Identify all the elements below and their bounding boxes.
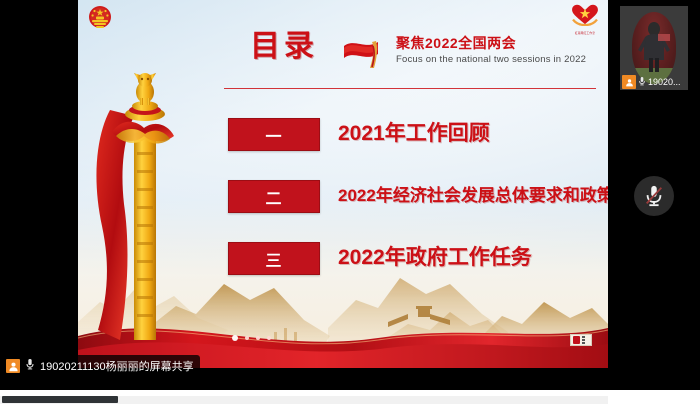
- agenda-number-3: 三: [229, 243, 319, 274]
- slide-subtitle-cn: 聚焦2022全国两会: [396, 33, 516, 53]
- microphone-muted-icon[interactable]: [634, 176, 674, 216]
- badge-bars: [582, 336, 585, 344]
- china-national-emblem-icon: [87, 4, 113, 34]
- microphone-icon: [25, 357, 35, 375]
- participant-tile-label: 19020...: [620, 74, 688, 90]
- agenda-number-badge-2: 二: [228, 180, 320, 213]
- person-icon: [622, 75, 636, 89]
- agenda-number-1: 一: [229, 119, 319, 150]
- agenda-label-3: 2022年政府工作任务: [338, 241, 532, 275]
- page-title: 目录: [250, 30, 318, 64]
- person-icon: [6, 359, 20, 373]
- meeting-screen-share-window: 红基网红工作室 目录 聚焦2022全国两会 Focus on the natio…: [0, 0, 700, 408]
- slide-title-block: 目录 聚焦2022全国两会 Focus on the national two …: [250, 30, 600, 86]
- participant-name-label: 19020...: [648, 77, 681, 87]
- agenda-number-2: 二: [229, 181, 319, 212]
- title-divider: [224, 88, 596, 89]
- wave-decoration-dots: [232, 335, 271, 341]
- slide-subtitle-en: Focus on the national two sessions in 20…: [396, 54, 586, 65]
- agenda-label-1: 2021年工作回顾: [338, 117, 490, 151]
- shared-screen-stage[interactable]: 红基网红工作室 目录 聚焦2022全国两会 Focus on the natio…: [0, 0, 608, 390]
- presenter-name-strip: 19020211130杨丽丽的屏幕共享: [0, 355, 200, 377]
- participants-sidebar: 19020...: [608, 0, 700, 408]
- microphone-icon: [638, 73, 646, 90]
- presenter-name-label: 19020211130杨丽丽的屏幕共享: [40, 358, 194, 374]
- slide-corner-badge: [570, 334, 592, 346]
- huabiao-column-icon: [90, 40, 182, 340]
- agenda-label-2: 2022年经济社会发展总体要求和政策取向: [338, 179, 608, 213]
- agenda-number-badge-1: 一: [228, 118, 320, 151]
- participant-video-tile[interactable]: 19020...: [620, 6, 688, 90]
- agenda-number-badge-3: 三: [228, 242, 320, 275]
- presentation-slide[interactable]: 红基网红工作室 目录 聚焦2022全国两会 Focus on the natio…: [78, 0, 608, 368]
- red-flag-icon: [342, 36, 386, 70]
- horizontal-scrollbar-thumb[interactable]: [2, 396, 118, 403]
- bottom-right-corner: [608, 390, 700, 408]
- badge-mark: [573, 336, 580, 344]
